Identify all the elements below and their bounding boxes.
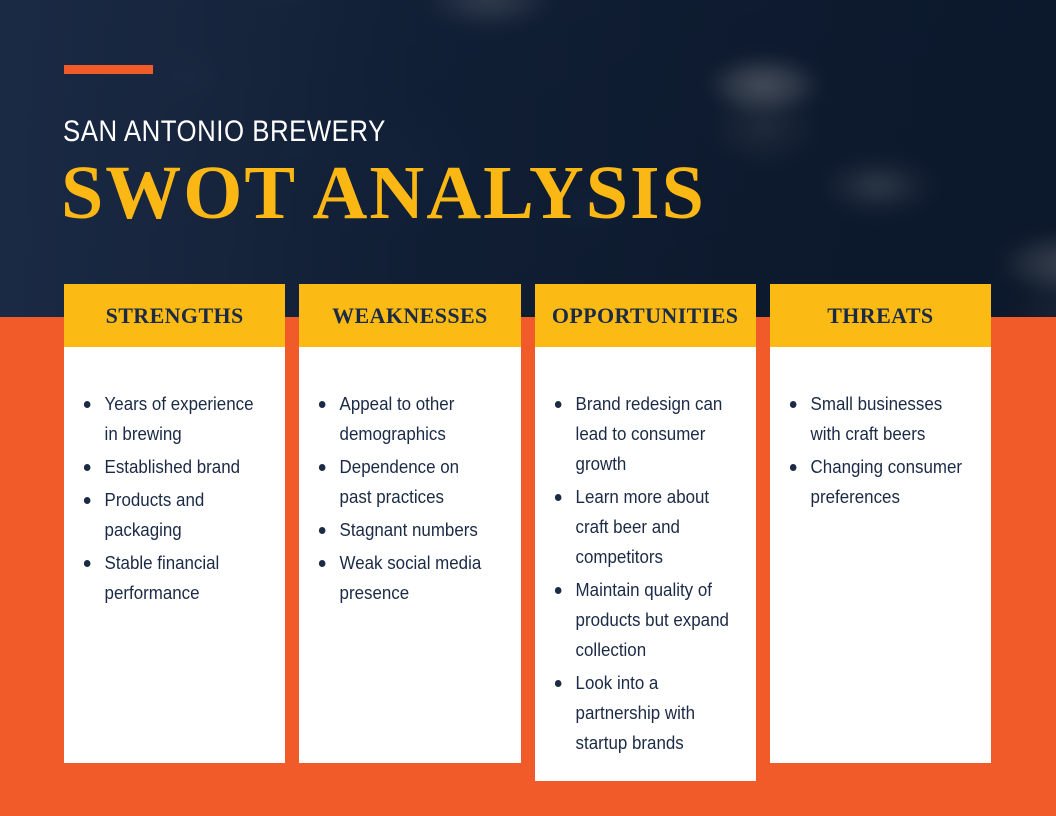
list-item-text: Years of experience in brewing [105, 394, 254, 444]
bullet-dot-icon [790, 401, 797, 408]
card-body-opportunities: Brand redesign can lead to consumer grow… [535, 347, 756, 781]
bullet-list-strengths: Years of experience in brewing Establish… [82, 389, 269, 608]
card-body-weaknesses: Appeal to other demographics Dependence … [299, 347, 520, 763]
swot-card-opportunities: OPPORTUNITIES Brand redesign can lead to… [535, 284, 756, 763]
company-name: SAN ANTONIO BREWERY [63, 115, 386, 149]
list-item: Appeal to other demographics [317, 389, 493, 449]
bullet-dot-icon [554, 680, 561, 687]
list-item-text: Products and packaging [105, 490, 205, 540]
list-item-text: Stable financial performance [105, 553, 220, 603]
bullet-list-threats: Small businesses with craft beers Changi… [788, 389, 975, 512]
list-item: Learn more about craft beer and competit… [553, 482, 729, 572]
list-item: Changing consumer preferences [788, 452, 964, 512]
list-item-text: Changing consumer preferences [810, 457, 961, 507]
card-body-strengths: Years of experience in brewing Establish… [64, 347, 285, 763]
list-item: Maintain quality of products but expand … [553, 575, 729, 665]
swot-card-weaknesses: WEAKNESSES Appeal to other demographics … [299, 284, 520, 763]
orange-accent-bar [64, 65, 153, 74]
list-item: Small businesses with craft beers [788, 389, 964, 449]
list-item: Stable financial performance [82, 548, 258, 608]
bullet-dot-icon [84, 401, 91, 408]
page-title: SWOT ANALYSIS [61, 155, 706, 231]
swot-poster: SAN ANTONIO BREWERY SWOT ANALYSIS STRENG… [0, 0, 1056, 816]
bullet-list-weaknesses: Appeal to other demographics Dependence … [317, 389, 504, 608]
list-item-text: Established brand [105, 457, 240, 477]
bullet-list-opportunities: Brand redesign can lead to consumer grow… [553, 389, 740, 758]
list-item: Dependence on past practices [317, 452, 493, 512]
card-body-threats: Small businesses with craft beers Changi… [770, 347, 991, 763]
card-title-threats: THREATS [827, 305, 933, 327]
bullet-dot-icon [84, 560, 91, 567]
list-item: Look into a partnership with startup bra… [553, 668, 729, 758]
bullet-dot-icon [319, 527, 326, 534]
bullet-dot-icon [319, 464, 326, 471]
card-header-threats: THREATS [770, 284, 991, 347]
bullet-dot-icon [554, 587, 561, 594]
list-item: Years of experience in brewing [82, 389, 258, 449]
list-item-text: Look into a partnership with startup bra… [575, 673, 694, 753]
list-item: Weak social media presence [317, 548, 493, 608]
swot-columns: STRENGTHS Years of experience in brewing… [64, 284, 991, 763]
list-item-text: Learn more about craft beer and competit… [575, 487, 709, 567]
list-item: Products and packaging [82, 485, 258, 545]
bullet-dot-icon [790, 464, 797, 471]
card-title-weaknesses: WEAKNESSES [332, 305, 488, 327]
list-item: Established brand [82, 452, 258, 482]
list-item-text: Stagnant numbers [340, 520, 478, 540]
list-item-text: Brand redesign can lead to consumer grow… [575, 394, 722, 474]
card-header-opportunities: OPPORTUNITIES [535, 284, 756, 347]
card-header-weaknesses: WEAKNESSES [299, 284, 520, 347]
swot-card-strengths: STRENGTHS Years of experience in brewing… [64, 284, 285, 763]
bullet-dot-icon [554, 401, 561, 408]
list-item-text: Appeal to other demographics [340, 394, 455, 444]
swot-card-threats: THREATS Small businesses with craft beer… [770, 284, 991, 763]
card-title-opportunities: OPPORTUNITIES [552, 305, 739, 327]
list-item: Brand redesign can lead to consumer grow… [553, 389, 729, 479]
card-header-strengths: STRENGTHS [64, 284, 285, 347]
card-title-strengths: STRENGTHS [106, 305, 244, 327]
list-item: Stagnant numbers [317, 515, 493, 545]
bullet-dot-icon [319, 401, 326, 408]
bullet-dot-icon [319, 560, 326, 567]
list-item-text: Weak social media presence [340, 553, 482, 603]
list-item-text: Small businesses with craft beers [810, 394, 942, 444]
bullet-dot-icon [84, 497, 91, 504]
bullet-dot-icon [84, 464, 91, 471]
list-item-text: Dependence on past practices [340, 457, 459, 507]
list-item-text: Maintain quality of products but expand … [575, 580, 728, 660]
bullet-dot-icon [554, 494, 561, 501]
